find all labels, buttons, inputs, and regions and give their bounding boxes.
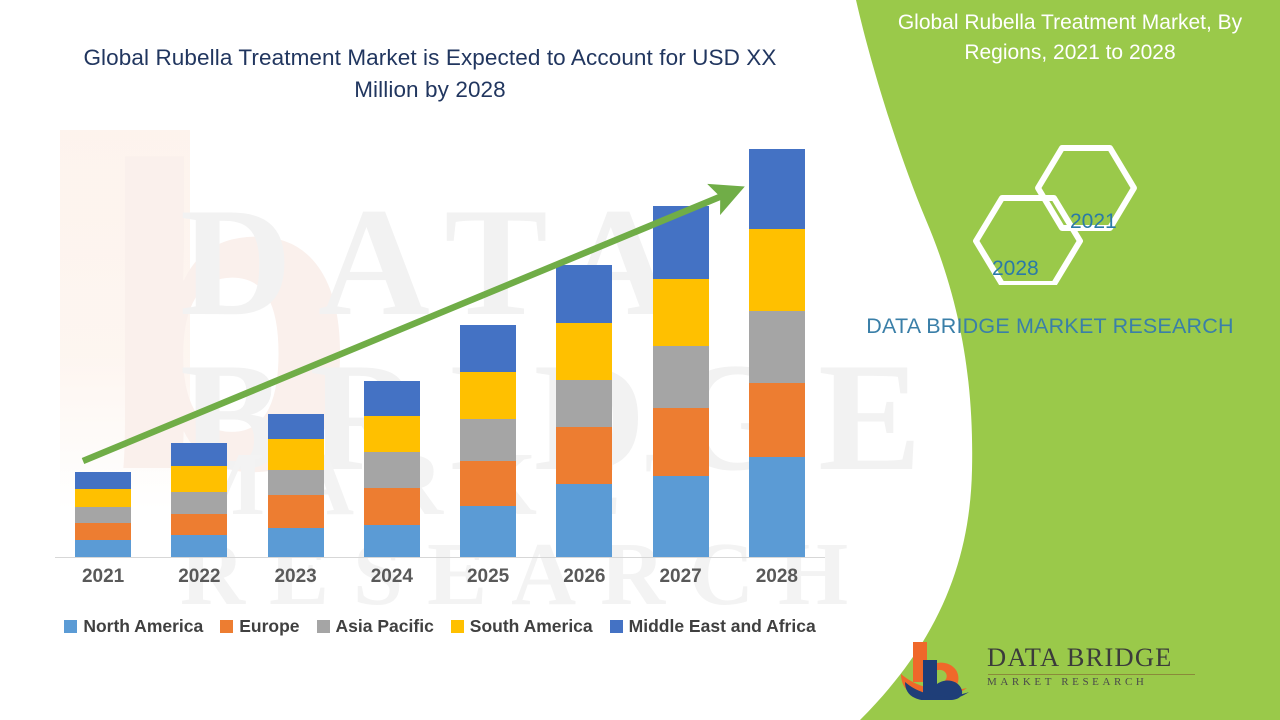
chart-legend: North AmericaEuropeAsia PacificSouth Ame… — [55, 616, 825, 637]
bar-segment-north-america — [749, 457, 805, 558]
bar-2024 — [364, 381, 420, 558]
bar-segment-middle-east-and-africa — [460, 325, 516, 372]
bar-segment-middle-east-and-africa — [364, 381, 420, 416]
legend-item[interactable]: North America — [64, 616, 203, 637]
x-tick-2024: 2024 — [344, 566, 440, 588]
bar-segment-asia-pacific — [75, 507, 131, 522]
bar-segment-south-america — [75, 489, 131, 508]
legend-item[interactable]: South America — [451, 616, 593, 637]
legend-swatch-icon — [64, 620, 77, 633]
bar-segment-middle-east-and-africa — [653, 206, 709, 279]
hexagon-label-2021: 2021 — [1070, 210, 1117, 234]
legend-label: North America — [83, 616, 203, 637]
legend-swatch-icon — [220, 620, 233, 633]
legend-swatch-icon — [317, 620, 330, 633]
legend-item[interactable]: Asia Pacific — [317, 616, 434, 637]
bar-segment-europe — [460, 461, 516, 506]
bar-segment-south-america — [460, 372, 516, 419]
bar-segment-north-america — [364, 525, 420, 558]
bar-segment-south-america — [749, 229, 805, 310]
slide-canvas: b DATA BRIDGE MARKET RESEARCH Global Rub… — [0, 0, 1280, 720]
x-axis-line — [55, 557, 825, 558]
legend-swatch-icon — [610, 620, 623, 633]
bar-2026 — [556, 265, 612, 558]
legend-label: South America — [470, 616, 593, 637]
bar-segment-asia-pacific — [268, 470, 324, 495]
brand-name-text: DATA BRIDGE MARKET RESEARCH — [850, 310, 1250, 342]
bar-2021 — [75, 472, 131, 558]
x-tick-2025: 2025 — [440, 566, 536, 588]
bar-2025 — [460, 325, 516, 558]
legend-label: Asia Pacific — [336, 616, 434, 637]
bar-segment-asia-pacific — [749, 311, 805, 384]
bar-2028 — [749, 149, 805, 558]
bar-segment-middle-east-and-africa — [556, 265, 612, 322]
bar-segment-south-america — [171, 466, 227, 492]
bar-segment-north-america — [653, 476, 709, 559]
bar-2022 — [171, 443, 227, 558]
brand-panel-content: Global Rubella Treatment Market, By Regi… — [820, 0, 1280, 720]
legend-swatch-icon — [451, 620, 464, 633]
hexagon-label-2028: 2028 — [992, 257, 1039, 281]
bar-segment-middle-east-and-africa — [171, 443, 227, 466]
bar-segment-north-america — [268, 528, 324, 558]
x-tick-2022: 2022 — [151, 566, 247, 588]
legend-item[interactable]: Europe — [220, 616, 299, 637]
bar-segment-asia-pacific — [171, 492, 227, 514]
bar-segment-europe — [653, 408, 709, 475]
bar-segment-south-america — [653, 279, 709, 346]
bar-segment-south-america — [364, 416, 420, 452]
legend-item[interactable]: Middle East and Africa — [610, 616, 816, 637]
bar-segment-north-america — [556, 484, 612, 558]
bar-segment-asia-pacific — [556, 380, 612, 427]
x-tick-2028: 2028 — [729, 566, 825, 588]
bar-segment-europe — [749, 383, 805, 457]
bar-segment-south-america — [268, 439, 324, 470]
logo-title: DATA BRIDGE — [987, 644, 1217, 672]
x-tick-2021: 2021 — [55, 566, 151, 588]
bar-segment-europe — [364, 488, 420, 525]
legend-label: Middle East and Africa — [629, 616, 816, 637]
bar-segment-asia-pacific — [364, 452, 420, 487]
bar-2027 — [653, 206, 709, 558]
legend-label: Europe — [239, 616, 299, 637]
hexagon-group: 2021 2028 — [970, 140, 1190, 285]
chart-title: Global Rubella Treatment Market is Expec… — [60, 42, 800, 106]
bar-segment-north-america — [171, 535, 227, 558]
x-tick-2023: 2023 — [248, 566, 344, 588]
x-tick-2027: 2027 — [633, 566, 729, 588]
bar-segment-middle-east-and-africa — [749, 149, 805, 229]
company-logo: DATA BRIDGE MARKET RESEARCH — [895, 638, 1215, 700]
bar-segment-middle-east-and-africa — [75, 472, 131, 489]
logo-wordmark: DATA BRIDGE MARKET RESEARCH — [987, 644, 1217, 688]
bar-segment-europe — [171, 514, 227, 535]
bar-segment-north-america — [460, 506, 516, 558]
bar-segment-asia-pacific — [653, 346, 709, 409]
x-tick-2026: 2026 — [536, 566, 632, 588]
x-axis-tick-labels: 20212022202320242025202620272028 — [55, 566, 825, 596]
bar-segment-europe — [556, 427, 612, 484]
logo-divider — [988, 674, 1195, 676]
brand-panel: Global Rubella Treatment Market, By Regi… — [820, 0, 1280, 720]
bar-2023 — [268, 414, 324, 558]
bar-segment-middle-east-and-africa — [268, 414, 324, 439]
bar-plot-area — [55, 140, 825, 558]
chart-panel: Global Rubella Treatment Market is Expec… — [0, 0, 860, 720]
bar-segment-asia-pacific — [460, 419, 516, 461]
bar-segment-europe — [75, 523, 131, 541]
data-bridge-logo-mark-icon — [895, 638, 981, 700]
logo-subtitle: MARKET RESEARCH — [987, 676, 1217, 688]
bar-segment-south-america — [556, 323, 612, 380]
panel-title: Global Rubella Treatment Market, By Regi… — [870, 8, 1270, 69]
bar-segment-north-america — [75, 540, 131, 558]
bar-segment-europe — [268, 495, 324, 528]
